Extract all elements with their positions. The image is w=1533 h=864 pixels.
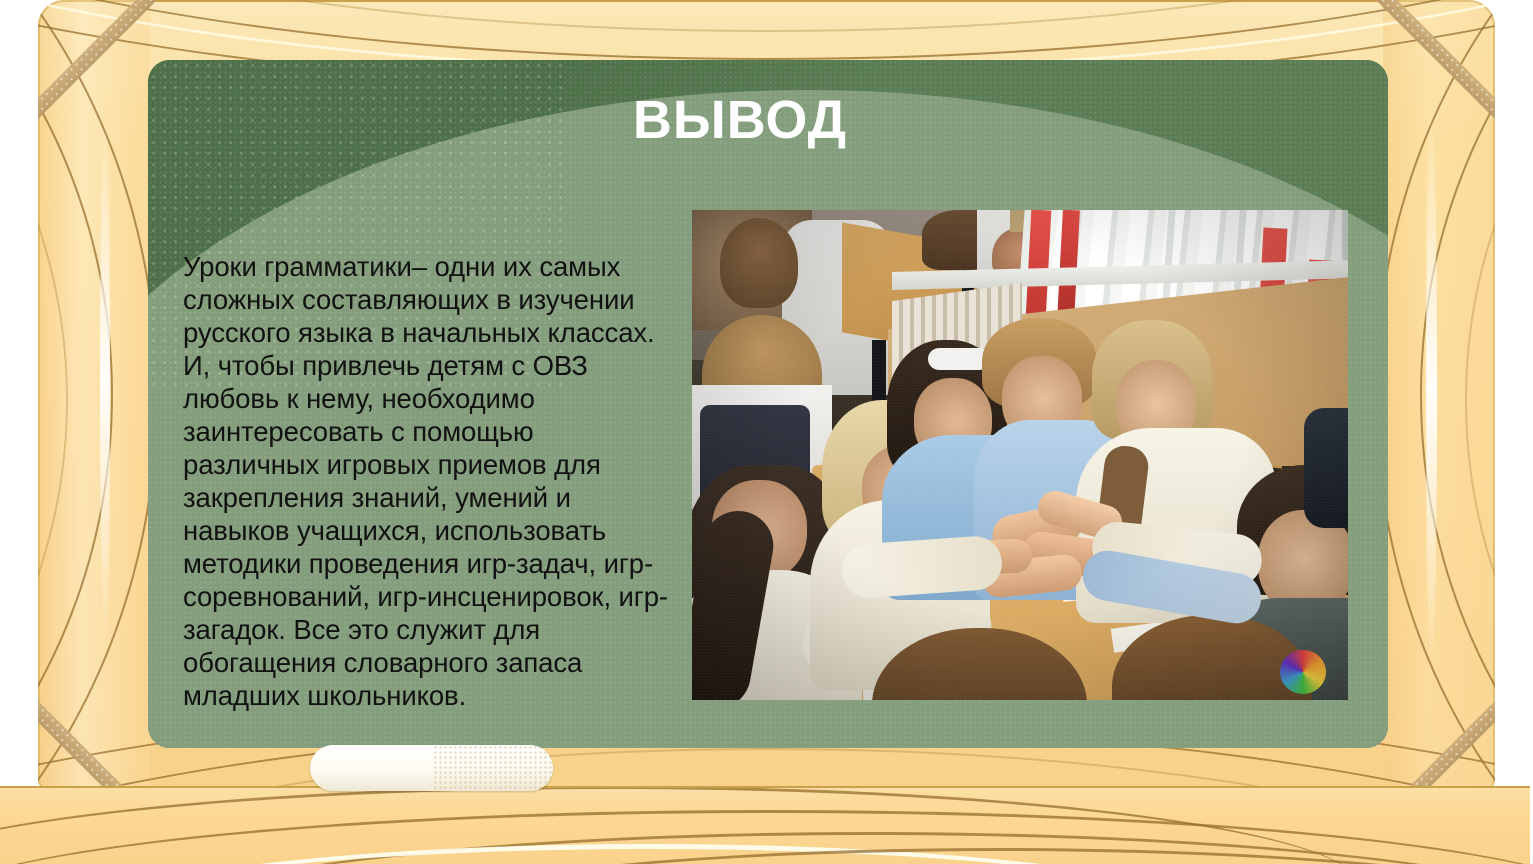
chalk-ledge [0,786,1530,864]
chalk-dust [433,745,553,791]
body-paragraph: Уроки грамматики– одни их самых сложных … [183,250,675,712]
chalk-stick[interactable] [310,745,553,791]
classroom-photo [692,210,1348,700]
slide-canvas: ВЫВОД Уроки грамматики– одни их самых сл… [0,0,1533,864]
wood-highlight-streak [100,120,110,640]
photo-content [692,210,1348,700]
page-title: ВЫВОД [300,92,1180,149]
wood-highlight-streak [1426,110,1437,670]
